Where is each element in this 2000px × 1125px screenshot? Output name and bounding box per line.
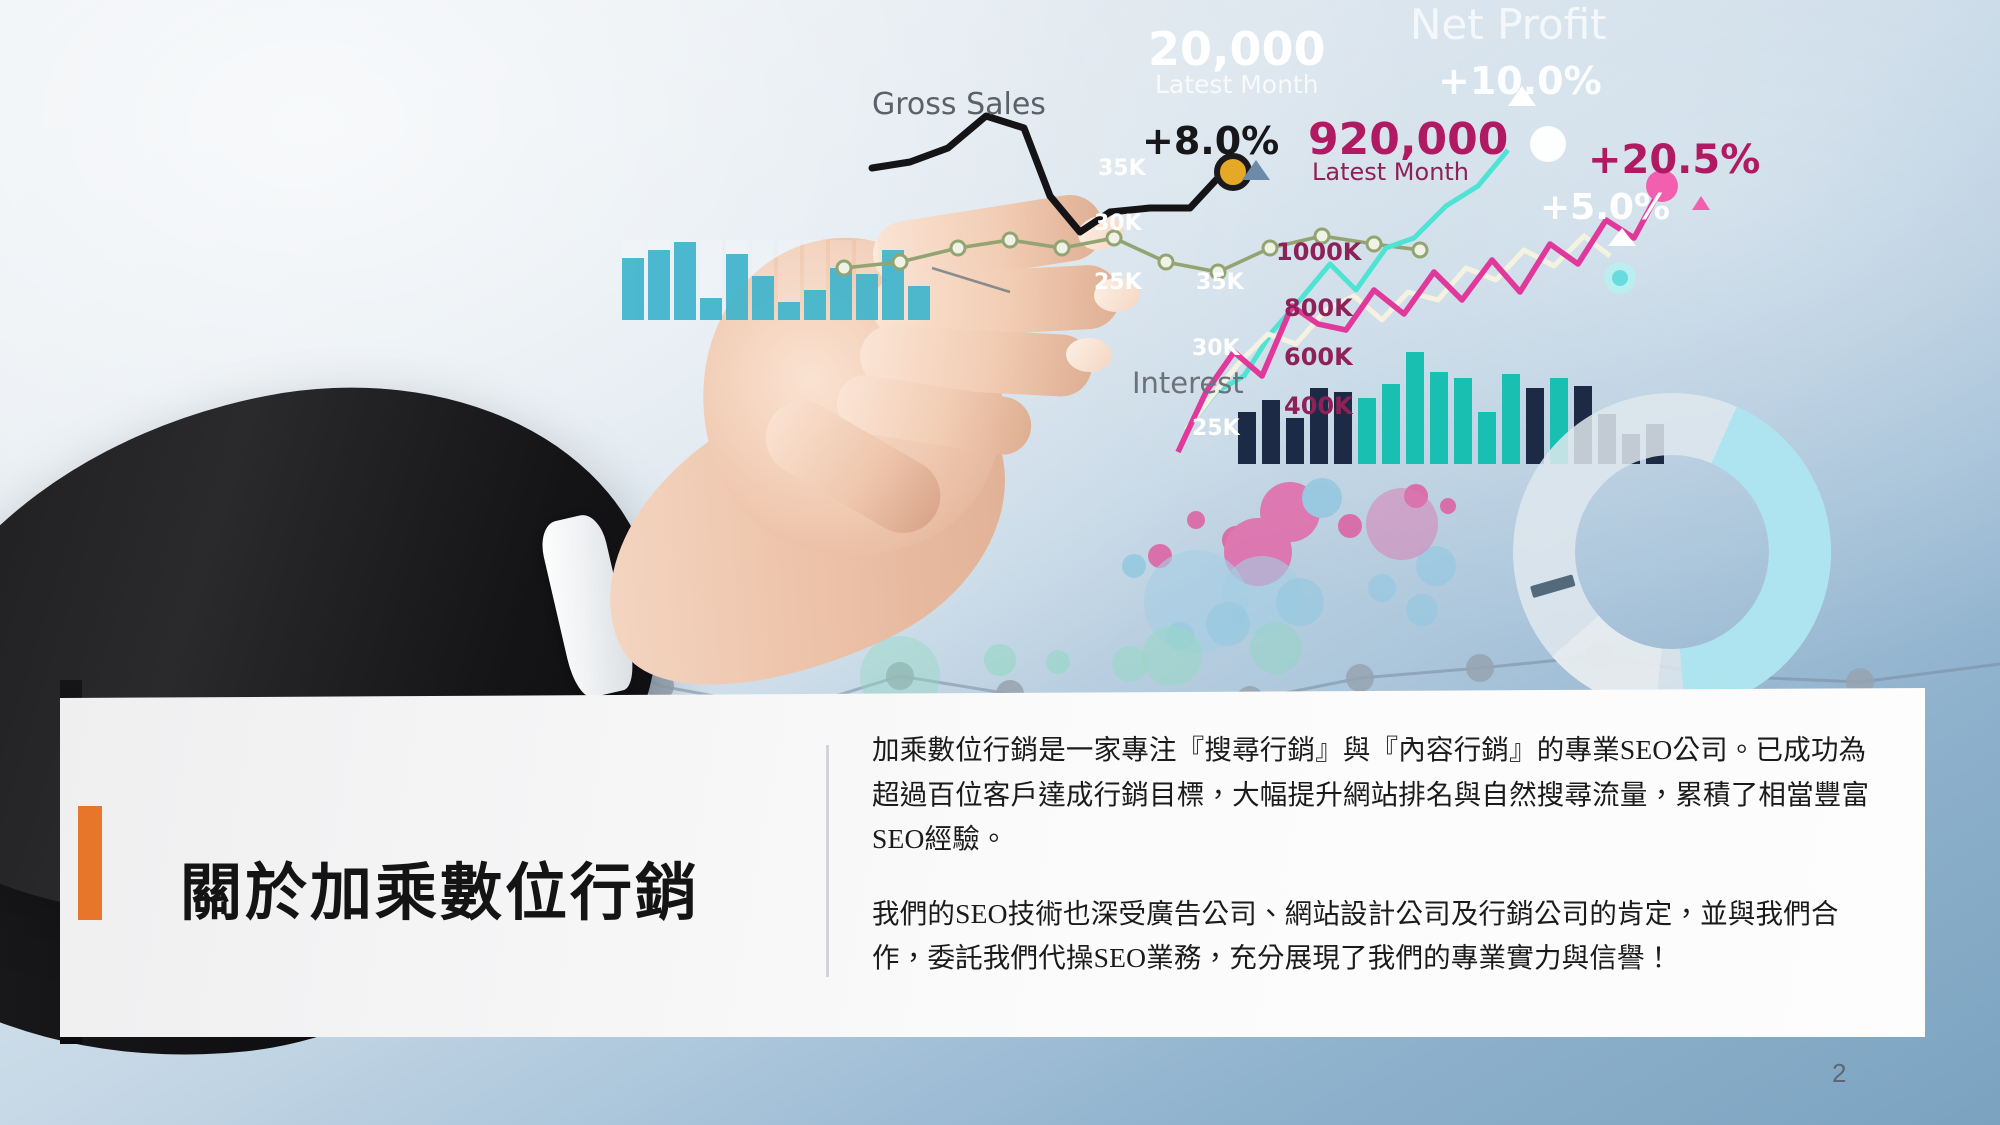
delta-5-percent: +5.0% [1540,190,1670,226]
body-text-block: 加乘數位行銷是一家專注『搜尋行銷』與『內容行銷』的專業SEO公司。已成功為超過百… [872,728,1892,981]
latest-month-sub-1: Latest Month [1155,72,1319,97]
gross-sales-label: Gross Sales [872,90,1046,120]
axis-mid-tick-0: 35K [1196,272,1244,294]
body-paragraph-1: 加乘數位行銷是一家專注『搜尋行銷』與『內容行銷』的專業SEO公司。已成功為超過百… [872,728,1892,862]
latest-month-value-1: 20,000 [1148,26,1326,72]
trend-up-triangle-icon [1692,196,1710,210]
trend-up-triangle-icon [1608,228,1636,246]
page-title: 關於加乘數位行銷 [180,842,700,932]
delta-20-5-percent: +20.5% [1588,140,1760,180]
delta-8-percent: +8.0% [1142,122,1279,160]
vertical-divider [826,745,829,977]
axis-right-tick-0: 1000K [1276,240,1361,264]
cyan-bar-chart [622,242,930,320]
trend-up-triangle-icon [1242,160,1270,180]
axis-right-tick-2: 600K [1284,345,1353,369]
slide: Gross Sales 20,000 Latest Month +8.0% 92… [0,0,2000,1125]
page-number: 2 [1832,1058,1846,1089]
axis-left-tick-1: 30K [1094,213,1142,235]
title-accent-bar [78,806,102,920]
body-paragraph-2: 我們的SEO技術也深受廣告公司、網站設計公司及行銷公司的肯定，並與我們合作，委託… [872,892,1892,981]
latest-month-value-2: 920,000 [1308,118,1508,162]
bubble-chart [860,478,1456,716]
interest-label: Interest [1132,369,1244,398]
connector-line [932,268,1010,292]
axis-left-tick-0: 35K [1098,158,1146,180]
axis-mid-tick-2: 25K [1192,418,1240,440]
cyan-line-endpoint [1530,126,1566,162]
teal-marker-core [1612,270,1628,286]
axis-right-tick-3: 400K [1284,394,1353,418]
axis-right-tick-1: 800K [1284,296,1353,320]
axis-mid-tick-1: 30K [1192,338,1240,360]
axis-left-tick-2: 25K [1094,272,1142,294]
net-profit-label: Net Profit [1410,4,1607,46]
latest-month-sub-2: Latest Month [1312,160,1469,184]
trend-up-triangle-icon [1508,86,1536,106]
